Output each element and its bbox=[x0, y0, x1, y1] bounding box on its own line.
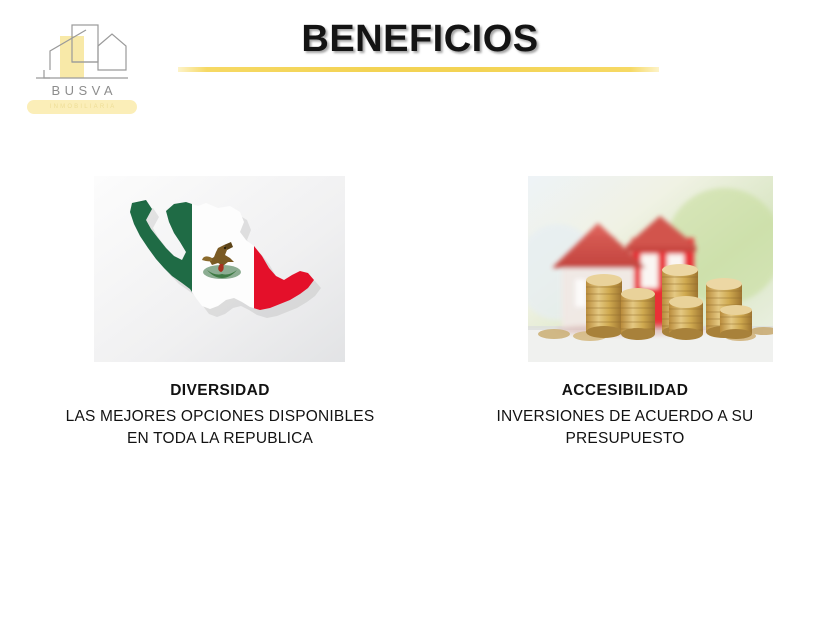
page-title: BENEFICIOS bbox=[0, 18, 840, 61]
logo-tagline: INMOBILIARIA bbox=[48, 104, 117, 110]
benefit-body-line-1: INVERSIONES DE ACUERDO A SU bbox=[430, 406, 820, 428]
logo-tagline-pill: INMOBILIARIA bbox=[27, 100, 137, 114]
benefit-body-line-2: EN TODA LA REPUBLICA bbox=[20, 428, 420, 450]
benefit-caption-diversidad: DIVERSIDAD LAS MEJORES OPCIONES DISPONIB… bbox=[20, 382, 420, 450]
benefit-title: DIVERSIDAD bbox=[20, 382, 420, 400]
logo-wordmark: BUSVA bbox=[22, 83, 142, 98]
house-and-coins-image bbox=[528, 176, 773, 362]
benefit-column-diversidad: DIVERSIDAD LAS MEJORES OPCIONES DISPONIB… bbox=[20, 176, 420, 450]
slide-beneficios: BUSVA INMOBILIARIA BENEFICIOS bbox=[0, 0, 840, 630]
mexico-map-flag-image bbox=[94, 176, 345, 362]
benefit-caption-accesibilidad: ACCESIBILIDAD INVERSIONES DE ACUERDO A S… bbox=[430, 382, 820, 450]
benefit-title: ACCESIBILIDAD bbox=[430, 382, 820, 400]
benefit-column-accesibilidad: ACCESIBILIDAD INVERSIONES DE ACUERDO A S… bbox=[430, 176, 820, 450]
benefit-body-line-2: PRESUPUESTO bbox=[430, 428, 820, 450]
benefit-body-line-1: LAS MEJORES OPCIONES DISPONIBLES bbox=[20, 406, 420, 428]
title-underline-rule bbox=[178, 67, 659, 72]
